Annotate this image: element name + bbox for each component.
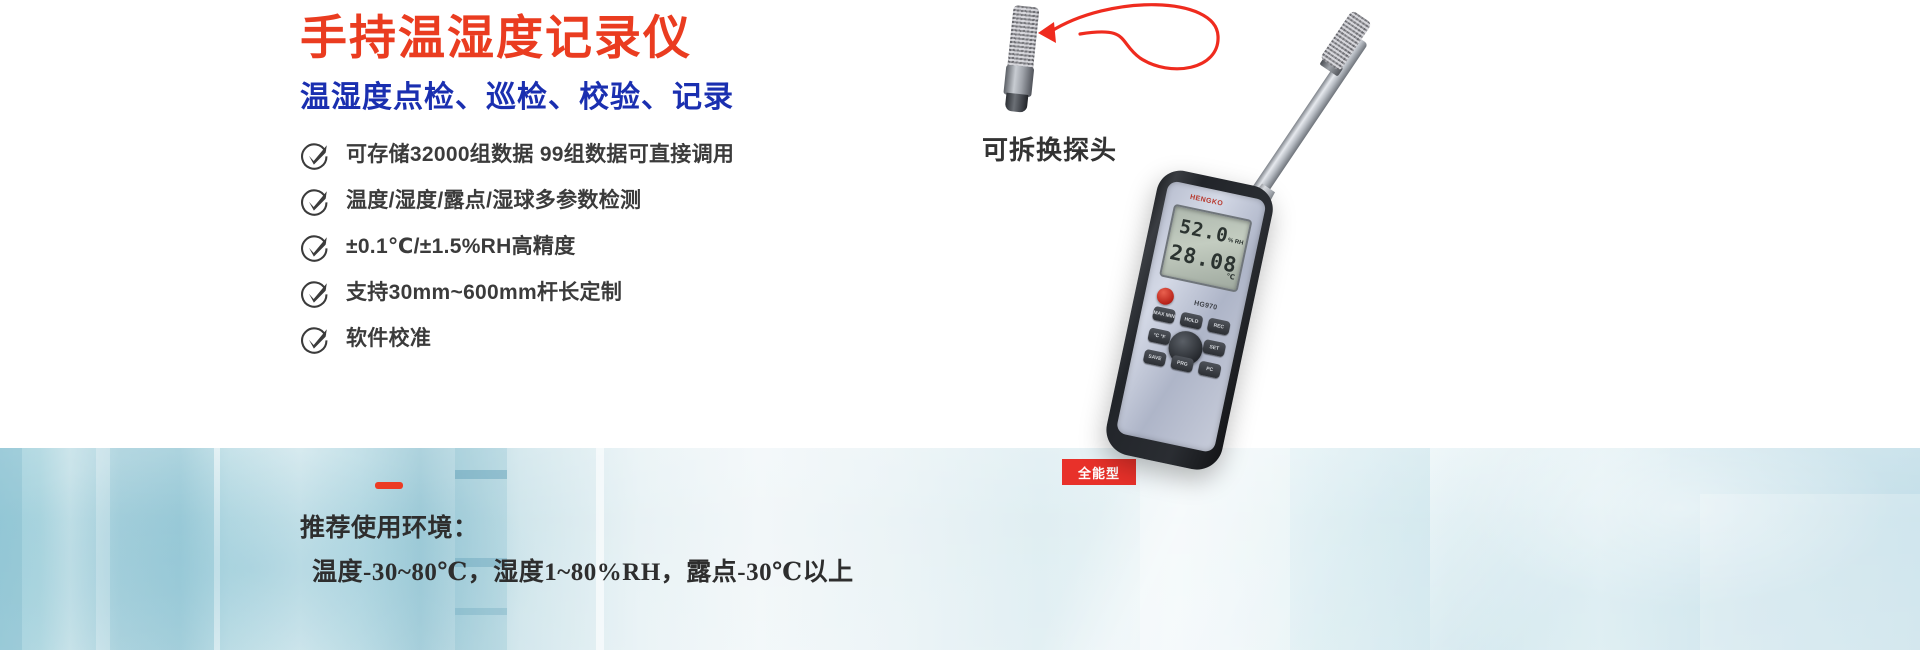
list-item-label: 支持30mm~600mm杆长定制 bbox=[346, 280, 622, 306]
check-circle-icon bbox=[300, 232, 330, 262]
list-item-label: 温度/湿度/露点/湿球多参数检测 bbox=[346, 188, 641, 214]
check-circle-icon bbox=[300, 140, 330, 170]
product-photo: HENGKO 52.0 % RH 28.08 ℃ HG970 MAX MIN H… bbox=[980, 0, 1400, 560]
key-unit[interactable]: °C °F bbox=[1147, 327, 1171, 345]
recommended-environment-values: 温度-30~80℃，湿度1~80%RH，露点-30℃以上 bbox=[300, 556, 854, 590]
list-item-label: 软件校准 bbox=[346, 326, 431, 352]
key-set[interactable]: SET bbox=[1202, 339, 1226, 357]
band-decorative-shapes bbox=[0, 448, 1920, 650]
list-item: 支持30mm~600mm杆长定制 bbox=[300, 270, 1000, 316]
list-item: 可存储32000组数据 99组数据可直接调用 bbox=[300, 132, 1000, 178]
list-item: 软件校准 bbox=[300, 316, 1000, 362]
list-item-label: ±0.1℃/±1.5%RH高精度 bbox=[346, 234, 576, 260]
handheld-meter: HENGKO 52.0 % RH 28.08 ℃ HG970 MAX MIN H… bbox=[1066, 141, 1345, 574]
recommended-environment-title: 推荐使用环境： bbox=[300, 512, 854, 546]
check-circle-icon bbox=[300, 324, 330, 354]
product-banner: 手持温湿度记录仪 温湿度点检、巡检、校验、记录 可存储32000组数据 99组数… bbox=[0, 0, 1920, 650]
curved-arrow-icon bbox=[1020, 0, 1240, 110]
lcd-temperature-unit: ℃ bbox=[1226, 272, 1236, 282]
probe-stem bbox=[1243, 35, 1368, 210]
list-item-label: 可存储32000组数据 99组数据可直接调用 bbox=[346, 142, 734, 168]
page-title: 手持温湿度记录仪 bbox=[300, 10, 692, 66]
page-subtitle: 温湿度点检、巡检、校验、记录 bbox=[300, 78, 734, 118]
list-item: 温度/湿度/露点/湿球多参数检测 bbox=[300, 178, 1000, 224]
key-save[interactable]: SAVE bbox=[1143, 349, 1167, 367]
recommended-environment: 推荐使用环境： 温度-30~80℃，湿度1~80%RH，露点-30℃以上 bbox=[300, 512, 854, 590]
list-item: ±0.1℃/±1.5%RH高精度 bbox=[300, 224, 1000, 270]
red-dash-marker bbox=[375, 482, 403, 489]
feature-list: 可存储32000组数据 99组数据可直接调用 温度/湿度/露点/湿球多参数检测 … bbox=[300, 132, 1000, 362]
check-circle-icon bbox=[300, 278, 330, 308]
lcd-humidity-unit: % RH bbox=[1227, 238, 1244, 247]
lower-photo-band bbox=[0, 448, 1920, 650]
check-circle-icon bbox=[300, 186, 330, 216]
key-pc[interactable]: PC bbox=[1197, 360, 1221, 378]
